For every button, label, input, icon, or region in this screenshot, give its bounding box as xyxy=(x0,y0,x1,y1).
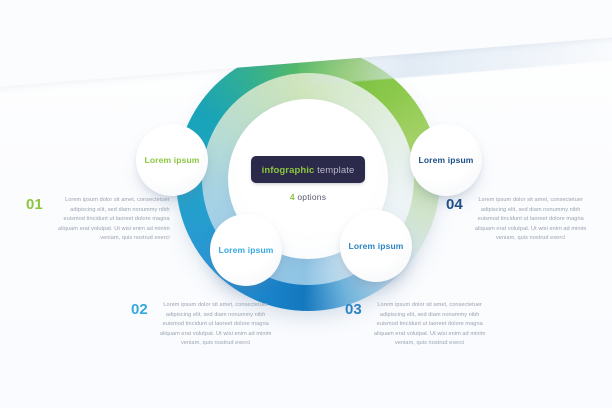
bubble-option-1[interactable]: Lorem ipsum xyxy=(136,124,208,196)
bubble-label-2: Lorem ipsum xyxy=(218,245,273,255)
options-count-label: 4 options xyxy=(290,192,326,202)
step-body-04: Lorem ipsum dolor sit amet, consectetuer… xyxy=(472,196,590,244)
step-number-01: 01 xyxy=(26,196,43,212)
step-body-02: Lorem ipsum dolor sit amet, consectetuer… xyxy=(157,301,275,349)
step-body-01: Lorem ipsum dolor sit amet, consectetuer… xyxy=(52,196,170,244)
bubble-label-1: Lorem ipsum xyxy=(144,155,199,165)
bubble-option-2[interactable]: Lorem ipsum xyxy=(210,214,282,286)
text-block-02: 02 Lorem ipsum dolor sit amet, consectet… xyxy=(131,301,275,349)
bubble-option-3[interactable]: Lorem ipsum xyxy=(340,210,412,282)
text-block-01: 01 Lorem ipsum dolor sit amet, consectet… xyxy=(26,196,170,244)
text-block-04: 04 Lorem ipsum dolor sit amet, consectet… xyxy=(446,196,590,244)
step-number-03: 03 xyxy=(345,301,362,317)
step-number-04: 04 xyxy=(446,196,463,212)
step-number-02: 02 xyxy=(131,301,148,317)
step-body-03: Lorem ipsum dolor sit amet, consectetuer… xyxy=(371,301,489,349)
options-count-word: options xyxy=(295,192,326,202)
infographic-canvas: infographic template 4 options Lorem ips… xyxy=(0,0,612,408)
text-block-03: 03 Lorem ipsum dolor sit amet, consectet… xyxy=(345,301,489,349)
infographic-title-badge: infographic template xyxy=(251,156,366,183)
bubble-option-4[interactable]: Lorem ipsum xyxy=(410,124,482,196)
bubble-label-3: Lorem ipsum xyxy=(348,241,403,251)
bubble-label-4: Lorem ipsum xyxy=(418,155,473,165)
badge-title-light: template xyxy=(314,165,354,176)
badge-title-strong: infographic xyxy=(262,165,315,176)
